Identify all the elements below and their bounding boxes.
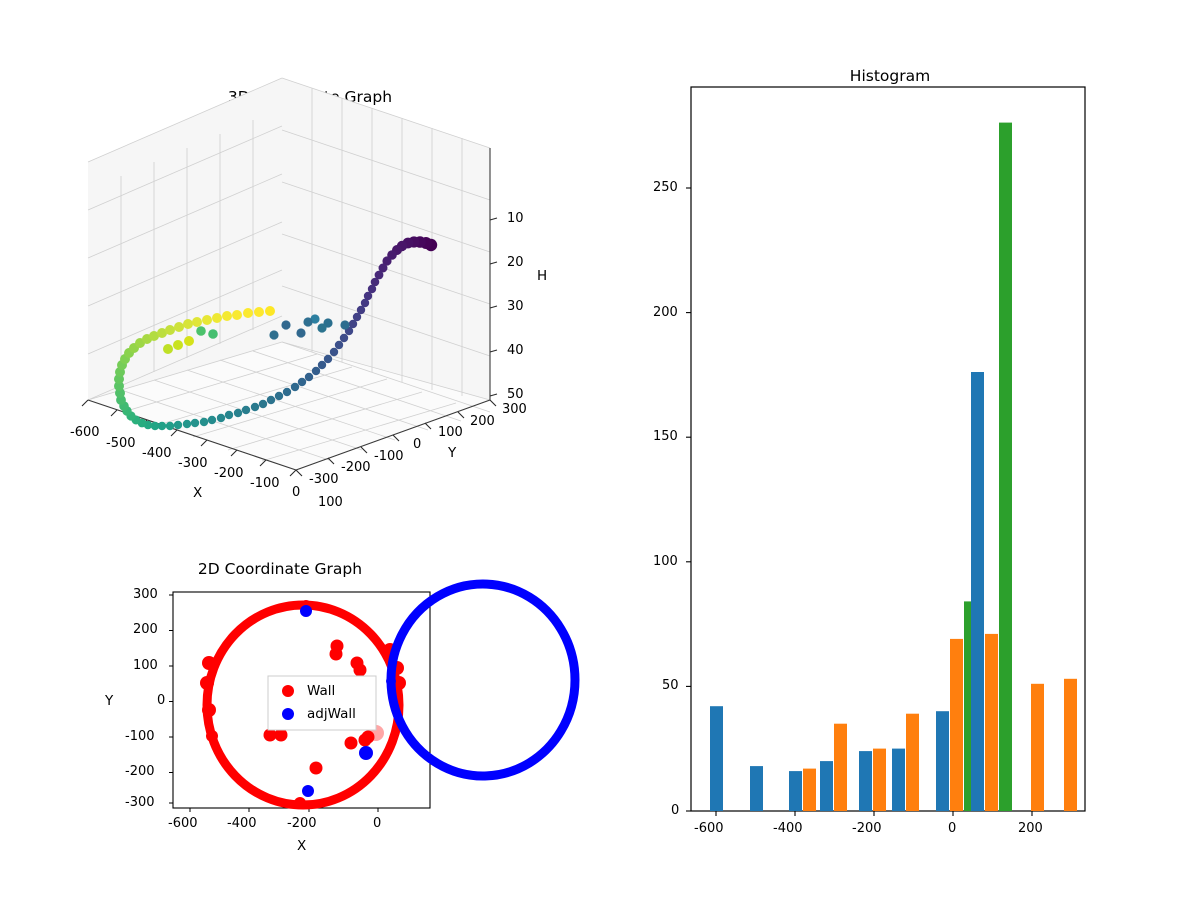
plot-2d-ytick-m100: -100 — [125, 729, 155, 744]
histogram-xtick-m600: -600 — [694, 821, 724, 836]
plot-3d-xlabel: X — [193, 485, 202, 501]
plot-3d-xtick-3: -300 — [178, 456, 208, 471]
histogram-xtick-m200: -200 — [852, 821, 882, 836]
bar-s1-7 — [971, 372, 984, 811]
plot-3d-xtick-7: 100 — [318, 495, 343, 510]
plot-3d-xtick-1: -500 — [106, 436, 136, 451]
bar-s2-2 — [803, 769, 816, 811]
bar-s1-1 — [750, 766, 763, 811]
bar-s1-3 — [820, 761, 833, 811]
histogram-ytick-200: 200 — [653, 305, 678, 320]
plot-3d-xtick-6: 0 — [292, 485, 300, 500]
plot-3d-ylabel: Y — [448, 445, 456, 461]
bar-s2-9 — [1064, 679, 1077, 811]
plot-3d-ytick-0: -300 — [309, 472, 339, 487]
plot-3d-xtick-0: -600 — [70, 425, 100, 440]
plot-3d-xtick-5: -100 — [250, 476, 280, 491]
histogram-ytick-50: 50 — [662, 678, 679, 693]
bar-s2-7 — [985, 634, 998, 811]
plot-2d-ytick-0: 0 — [157, 693, 165, 708]
histogram-ytick-150: 150 — [653, 429, 678, 444]
plot-3d-htick-1: 20 — [507, 255, 524, 270]
bar-s2-8 — [1031, 684, 1044, 811]
plot-3d-ytick-3: 0 — [413, 437, 421, 452]
plot-2d-panel: 2D Coordinate Graph — [60, 550, 680, 880]
bar-s2-5 — [906, 714, 919, 811]
bar-s1-0 — [710, 706, 723, 811]
plot-3d-htick-2: 30 — [507, 299, 524, 314]
plot-3d-ytick-1: -200 — [341, 460, 371, 475]
plot-3d-htick-4: 50 — [507, 387, 524, 402]
plot-3d-ytick-6: 300 — [502, 402, 527, 417]
h-axis-ticks — [490, 218, 497, 396]
bar-s3-7 — [999, 123, 1012, 811]
bar-s2-3 — [834, 724, 847, 811]
plot-3d-ytick-2: -100 — [374, 449, 404, 464]
legend-marker-adjwall — [282, 708, 294, 720]
plot-3d-ytick-4: 100 — [438, 425, 463, 440]
plot-3d-hlabel: H — [537, 268, 547, 284]
plot-2d-xtick-m400: -400 — [227, 816, 257, 831]
bar-s2-4 — [873, 749, 886, 811]
histogram-xtick-0: 0 — [948, 821, 956, 836]
plot-2d-legend-label-1: adjWall — [307, 706, 356, 722]
plot-3d-panel: 3D Coordinate Graph — [60, 70, 680, 520]
plot-2d-ytick-300: 300 — [133, 587, 158, 602]
histogram-ytick-250: 250 — [653, 180, 678, 195]
plot-2d-ytick-m200: -200 — [125, 764, 155, 779]
histogram-canvas — [640, 60, 1200, 880]
plot-2d-xtick-0: 0 — [373, 816, 381, 831]
plot-2d-ylabel: Y — [105, 693, 113, 709]
plot-2d-ytick-m300: -300 — [125, 795, 155, 810]
plot-3d-xtick-4: -200 — [214, 466, 244, 481]
plot-2d-xtick-m200: -200 — [287, 816, 317, 831]
histogram-xtick-marks — [716, 811, 1032, 816]
plot-2d-legend-label-0: Wall — [307, 683, 335, 699]
bar-s1-5 — [892, 749, 905, 811]
plot-3d-xtick-2: -400 — [142, 446, 172, 461]
plot-2d-xtick-marks — [190, 808, 378, 812]
histogram-xtick-200: 200 — [1018, 821, 1043, 836]
plot-3d-htick-3: 40 — [507, 343, 524, 358]
bar-s1-4 — [859, 751, 872, 811]
matplotlib-figure: 3D Coordinate Graph — [0, 0, 1200, 900]
legend-marker-wall — [282, 685, 294, 697]
histogram-panel: Histogram — [640, 60, 1200, 880]
plot-2d-xtick-m600: -600 — [168, 816, 198, 831]
plot-3d-ytick-5: 200 — [470, 414, 495, 429]
bar-s1-2 — [789, 771, 802, 811]
plot-2d-xlabel: X — [297, 838, 306, 854]
bar-s2-6 — [950, 639, 963, 811]
plot-2d-ytick-200: 200 — [133, 622, 158, 637]
histogram-ytick-marks — [686, 188, 691, 811]
histogram-xtick-m400: -400 — [773, 821, 803, 836]
histogram-frame — [691, 87, 1085, 811]
plot-3d-htick-0: 10 — [507, 211, 524, 226]
histogram-ytick-0: 0 — [671, 803, 679, 818]
plot-2d-ytick-100: 100 — [133, 658, 158, 673]
bar-s1-6 — [936, 711, 949, 811]
plot-2d-ytick-marks — [169, 595, 173, 803]
histogram-ytick-100: 100 — [653, 554, 678, 569]
